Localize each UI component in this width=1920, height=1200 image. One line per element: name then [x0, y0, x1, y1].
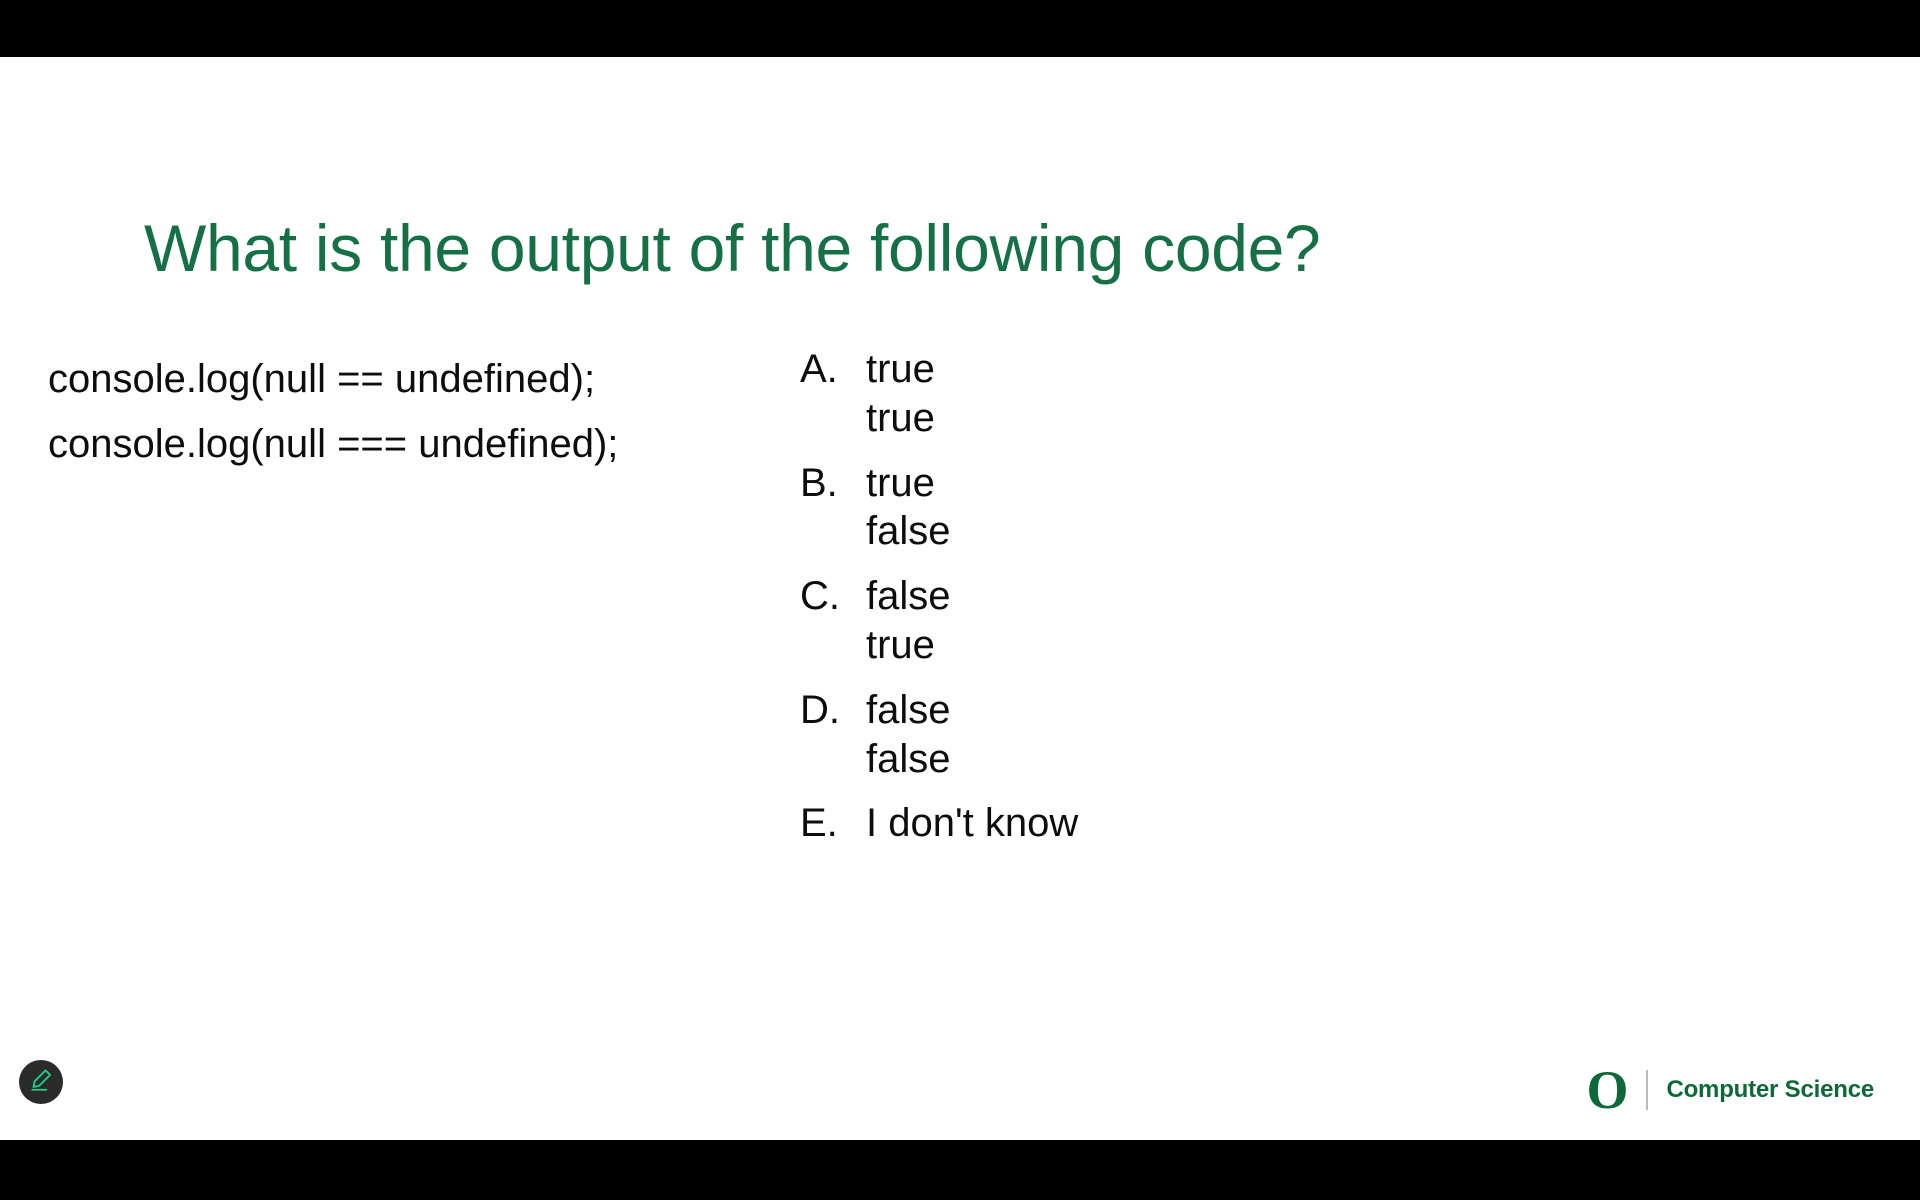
answer-option-d[interactable]: D. false false [800, 686, 1500, 784]
code-line: console.log(null === undefined); [48, 412, 748, 477]
annotate-button[interactable] [19, 1060, 63, 1104]
option-line: false [866, 572, 951, 621]
pen-icon [28, 1067, 54, 1098]
code-line: console.log(null == undefined); [48, 347, 748, 412]
answer-option-e[interactable]: E. I don't know [800, 799, 1500, 848]
answer-option-b[interactable]: B. true false [800, 459, 1500, 557]
university-o-logo: O [1586, 1063, 1646, 1117]
answer-options-list: A. true true B. true false C. false true [800, 345, 1500, 864]
code-block: console.log(null == undefined); console.… [48, 347, 748, 477]
page-title: What is the output of the following code… [144, 213, 1804, 284]
option-letter-b: B. [800, 459, 866, 508]
option-letter-a: A. [800, 345, 866, 394]
letterbox-bar-bottom [0, 1140, 1920, 1200]
answer-option-a[interactable]: A. true true [800, 345, 1500, 443]
option-line: false [866, 735, 951, 784]
option-text-a: true true [866, 345, 935, 443]
option-letter-c: C. [800, 572, 866, 621]
option-line: false [866, 686, 951, 735]
option-text-c: false true [866, 572, 951, 670]
letterbox-bar-top [0, 0, 1920, 57]
logo-divider [1646, 1070, 1648, 1110]
answer-option-c[interactable]: C. false true [800, 572, 1500, 670]
option-line: true [866, 621, 951, 670]
option-line: true [866, 394, 935, 443]
brand-name-label: Computer Science [1666, 1076, 1874, 1104]
option-line: I don't know [866, 799, 1078, 848]
option-letter-e: E. [800, 799, 866, 848]
option-text-d: false false [866, 686, 951, 784]
brand-logo: O Computer Science [1586, 1063, 1874, 1117]
option-line: true [866, 459, 951, 508]
option-line: false [866, 507, 951, 556]
option-letter-d: D. [800, 686, 866, 735]
option-line: true [866, 345, 935, 394]
slide-viewport: What is the output of the following code… [0, 0, 1920, 1200]
option-text-b: true false [866, 459, 951, 557]
presentation-slide: What is the output of the following code… [0, 57, 1920, 1140]
option-text-e: I don't know [866, 799, 1078, 848]
